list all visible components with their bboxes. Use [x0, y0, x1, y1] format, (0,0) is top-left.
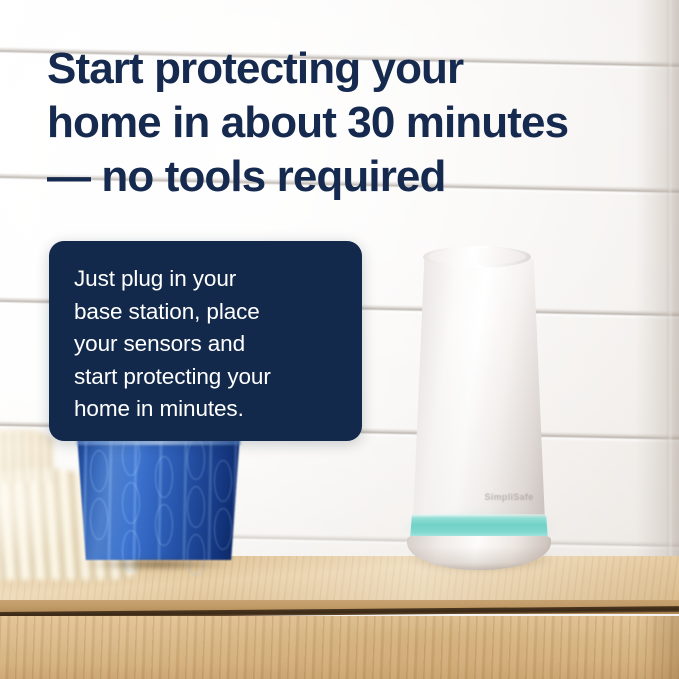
base-station-top-inner: [428, 248, 526, 265]
page-headline: Start protecting your home in about 30 m…: [47, 42, 647, 204]
instruction-callout-card: Just plug in your base station, place yo…: [49, 241, 362, 441]
vase-neck-rib-texture: [0, 432, 54, 482]
planter-contact-shadow: [82, 558, 234, 571]
simplisafe-base-station: SimpliSafe: [404, 246, 554, 576]
simplisafe-logo: SimpliSafe: [478, 492, 540, 502]
blue-ceramic-planter: [74, 440, 243, 570]
promo-image: SimpliSafe Start protecting your home in…: [0, 0, 679, 679]
wall-corner-line: [668, 0, 671, 585]
nightstand-right-shadow: [639, 616, 679, 679]
planter-glaze-gloss: [74, 440, 243, 565]
nightstand-drawer-front: [0, 616, 679, 679]
instruction-callout-text: Just plug in your base station, place yo…: [74, 263, 349, 426]
